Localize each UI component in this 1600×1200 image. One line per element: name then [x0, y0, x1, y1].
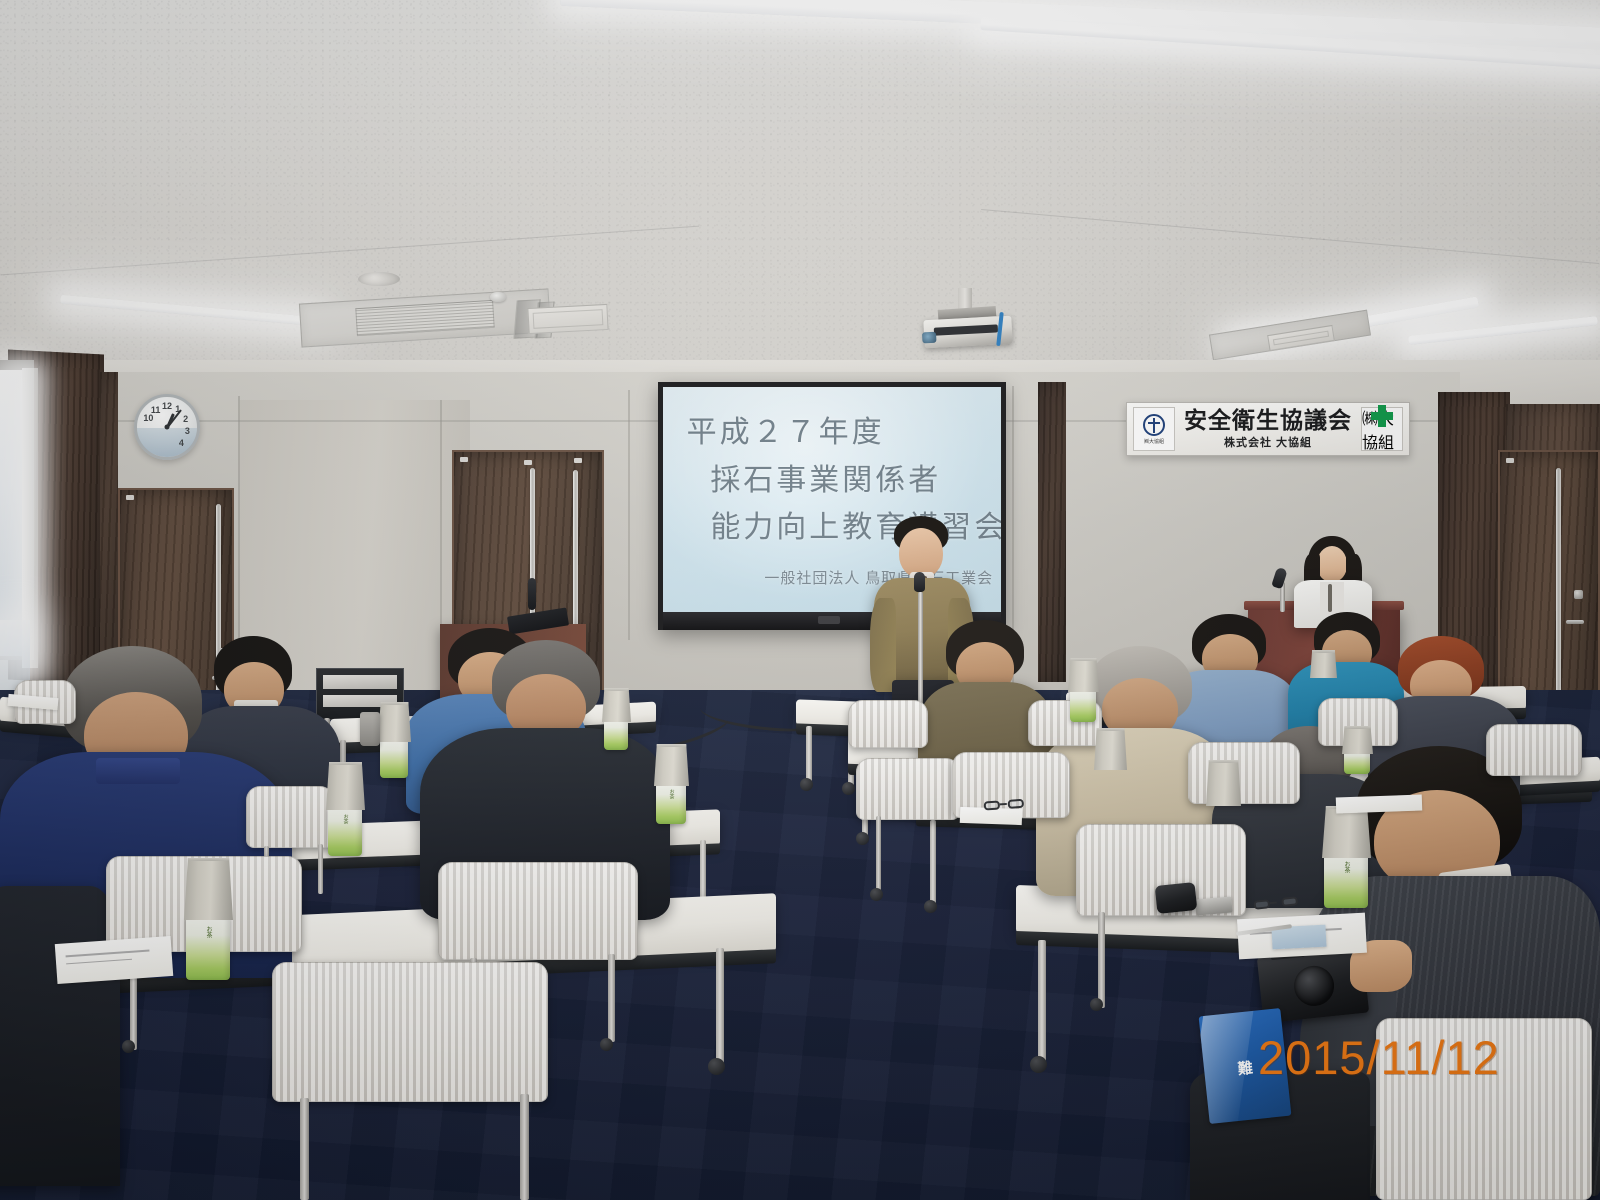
paper-cup-icon [1322, 806, 1371, 858]
clock-number-3: 3 [185, 426, 190, 436]
speaker-head [899, 528, 943, 578]
door-mark [524, 460, 532, 465]
table-leg [700, 840, 706, 904]
chair-leg [520, 1094, 529, 1200]
person-moderator-at-podium [1292, 536, 1374, 622]
paper-cup-icon [1310, 650, 1337, 678]
attendee-jacket-collar [96, 758, 180, 784]
wall-sign-safety-council: ㈱大協組 安全衛生協議会 株式会社 大協組 ㈱大協組 [1126, 402, 1410, 456]
tea-bottle-icon: お茶 [186, 916, 230, 980]
tea-bottle-label: お茶 [343, 814, 348, 824]
drink-back-left [380, 702, 408, 778]
clock-number-4: 4 [179, 438, 184, 448]
handout-paper-left [55, 936, 174, 984]
table-caster [924, 900, 937, 913]
tea-bottle-icon: お茶 [328, 806, 362, 856]
chair-backrest[interactable] [272, 962, 548, 1102]
thermos-icon [360, 712, 380, 746]
thermos-mid-left [360, 712, 380, 746]
chair-backrest[interactable] [1486, 724, 1582, 776]
ceiling-speaker-icon [358, 272, 400, 286]
chair-caster [600, 1038, 613, 1051]
handout-paper-right-rear [1336, 795, 1423, 814]
ac-grille [355, 300, 495, 337]
company-emblem-label: ㈱大協組 [1144, 438, 1164, 445]
green-cross-badge-right: ㈱大協組 [1361, 407, 1403, 451]
paper-cup-icon [1206, 760, 1241, 806]
chair-mid-right[interactable] [1188, 742, 1300, 804]
door-lock-plate[interactable] [1574, 590, 1583, 599]
paper-cup-icon [1068, 658, 1099, 692]
wall-sign-subtitle: 株式会社 大協組 [1179, 434, 1357, 450]
tea-bottle-label: お茶 [669, 789, 674, 799]
paper-cup-icon [326, 762, 365, 810]
eyeglass-lens [1008, 799, 1025, 809]
projector-lens [922, 332, 937, 344]
table-leg [1038, 940, 1046, 1064]
paper-cup-icon [378, 702, 411, 742]
tea-bottle-icon [380, 738, 408, 778]
wall-sign-title: 安全衛生協議会 [1179, 408, 1357, 432]
moderator-blouse [1320, 582, 1344, 616]
chair-mid-left[interactable] [438, 862, 638, 960]
paper-cup-icon [1094, 728, 1127, 770]
tea-bottle-icon: お茶 [656, 782, 686, 824]
door-handle[interactable] [1556, 468, 1561, 698]
slide-line-2: 採石事業関係者 [710, 455, 941, 499]
slide-line-1: 平成２７年度 [687, 407, 885, 451]
eyeglass-lens [1281, 896, 1298, 907]
drink-mid-right-1 [1096, 728, 1124, 792]
paper-cup-icon [602, 688, 631, 722]
eyeglass-bridge [1000, 803, 1007, 805]
chair-leg [876, 816, 881, 894]
chair-back-left[interactable] [246, 786, 334, 848]
drink-mid-center: お茶 [656, 744, 686, 824]
drink-front-left: お茶 [186, 858, 230, 980]
attendee-foreground-jacket [0, 886, 120, 1186]
camera-date-stamp: 2015/11/12 [1258, 1030, 1500, 1085]
clock-number-2: 2 [183, 414, 188, 424]
sprinkler-head-icon [490, 292, 506, 302]
chair-back-center[interactable] [848, 700, 928, 748]
chair-leg [300, 1098, 309, 1200]
door-lever-handle[interactable] [1566, 620, 1584, 624]
chair-backrest[interactable] [848, 700, 928, 748]
paper-cup-icon [184, 858, 233, 920]
door-mark [1506, 458, 1514, 463]
speaker-arm-left [870, 598, 896, 692]
tea-bottle-label: お茶 [205, 926, 211, 938]
eyeglass-bridge [1270, 901, 1277, 904]
seminar-room-photograph: 12 1 2 3 4 10 11 平成２７年度 採石事業関係者 能力向上教育講習… [0, 0, 1600, 1200]
projector-top-panel [934, 324, 998, 335]
chair-caster [1090, 998, 1103, 1011]
drink-front-right: お茶 [1324, 806, 1368, 908]
window-glass [0, 370, 22, 656]
chair-leg [318, 844, 323, 894]
table-leg [716, 948, 724, 1066]
ceiling-texture [0, 0, 1600, 400]
chair-backrest[interactable] [246, 786, 334, 848]
chair-caster [122, 1040, 135, 1053]
door-mark [126, 495, 134, 500]
table-leg [930, 820, 936, 906]
microphone-icon [914, 572, 925, 592]
paper-text-line [66, 959, 132, 965]
paper-cup-icon [1342, 726, 1373, 754]
clock-center-pin [165, 425, 170, 430]
chair-leg [1098, 912, 1105, 1008]
door-mark [574, 458, 582, 463]
table-caster [800, 778, 813, 791]
table-caster [708, 1058, 725, 1075]
drink-back-center [604, 688, 628, 750]
drink-right-rear [1344, 726, 1370, 774]
table-caster [856, 832, 869, 845]
table-caster [1030, 1056, 1047, 1073]
drink-mid-left: お茶 [328, 762, 362, 856]
clock-number-12: 12 [162, 401, 172, 411]
wall-seam [628, 390, 630, 640]
wall-sign-text-block: 安全衛生協議会 株式会社 大協組 [1175, 408, 1361, 449]
ceiling [0, 0, 1600, 400]
paper-text-line [66, 950, 150, 958]
tea-bottle-icon [604, 718, 628, 750]
eyeglass-lens [1253, 899, 1270, 910]
wall-wood-trim [100, 372, 118, 692]
moderator-necklace [1328, 584, 1332, 612]
table-leg [806, 726, 812, 782]
company-emblem-icon [1143, 414, 1165, 436]
clock-number-11: 11 [151, 405, 161, 415]
ceiling-projector-icon [920, 288, 1020, 352]
ceiling-vent [527, 304, 608, 334]
chair-foreground-left[interactable] [272, 962, 548, 1102]
tea-bottle-icon: お茶 [1324, 852, 1368, 908]
lectern-microphone-icon [528, 578, 536, 610]
wall-clock: 12 1 2 3 4 10 11 [134, 394, 200, 460]
chair-mid-center[interactable] [856, 758, 960, 820]
eyeglass-lens [984, 800, 1001, 810]
paper-cup-icon [654, 744, 689, 786]
pouch-label: 難 [1237, 1057, 1254, 1079]
chair-backrest[interactable] [856, 758, 960, 820]
drink-mid-right-2 [1208, 760, 1238, 814]
tea-bottle-label: お茶 [1343, 861, 1349, 873]
drink-back-right [1070, 658, 1096, 722]
chair-caster [870, 888, 883, 901]
camera-strap-bundle [1155, 882, 1198, 914]
chair-backrest[interactable] [438, 862, 638, 960]
moderator-head [1317, 546, 1347, 582]
company-emblem-badge-left: ㈱大協組 [1133, 407, 1175, 451]
camera-lens [1292, 964, 1336, 1008]
door-mark [460, 457, 468, 462]
chair-far-right[interactable] [1486, 724, 1582, 776]
chair-backrest[interactable] [1188, 742, 1300, 804]
mobile-phone-icon [1195, 896, 1232, 915]
tea-bottle-icon [1070, 688, 1096, 722]
drink-far-right-rear [1312, 650, 1334, 692]
chair-leg [608, 954, 615, 1042]
table-caster [842, 782, 855, 795]
